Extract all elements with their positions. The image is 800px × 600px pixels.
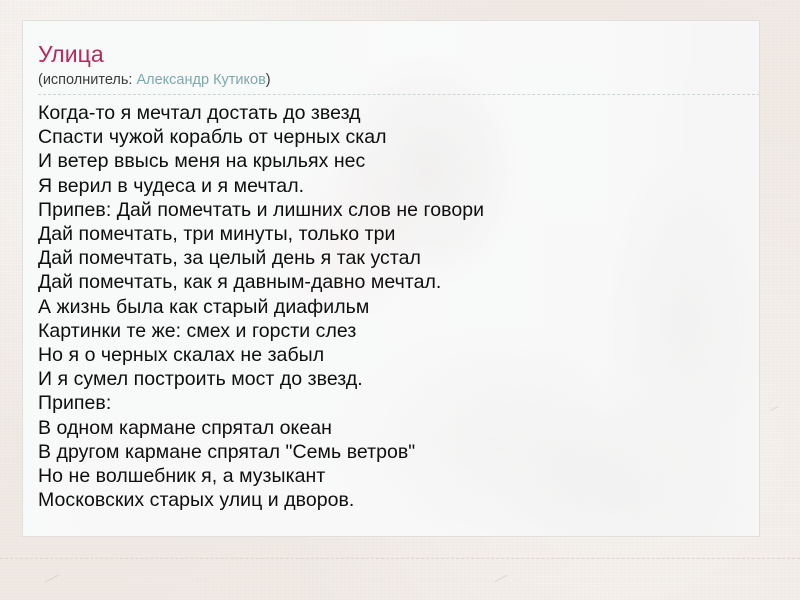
slide-content-panel: Улица (исполнитель: Александр Кутиков) К… xyxy=(22,20,760,537)
lyrics-block: Когда-то я мечтал достать до звездСпасти… xyxy=(38,101,744,512)
performer-prefix-label: (исполнитель: xyxy=(38,72,136,88)
lyric-line: Но я о черных скалах не забыл xyxy=(38,343,744,367)
slide-frame: Улица (исполнитель: Александр Кутиков) К… xyxy=(0,0,800,600)
lyric-line: И я сумел построить мост до звезд. xyxy=(38,367,744,391)
lyric-line: Но не волшебник я, а музыкант xyxy=(38,464,744,488)
lyric-line: Спасти чужой корабль от черных скал xyxy=(38,125,744,149)
performer-name-link[interactable]: Александр Кутиков xyxy=(136,72,265,88)
lyric-line: Когда-то я мечтал достать до звезд xyxy=(38,101,744,125)
lyric-line: В одном кармане спрятал океан xyxy=(38,416,744,440)
lyric-line: И ветер ввысь меня на крыльях нес xyxy=(38,149,744,173)
lyric-line: Московских старых улиц и дворов. xyxy=(38,488,744,512)
lyric-line: А жизнь была как старый диафильм xyxy=(38,295,744,319)
performer-line: (исполнитель: Александр Кутиков) xyxy=(38,71,744,90)
lyric-line: Припев: Дай помечтать и лишних слов не г… xyxy=(38,198,744,222)
text-column: Улица (исполнитель: Александр Кутиков) К… xyxy=(38,40,744,512)
paper-scratch-mark xyxy=(45,574,60,582)
lyric-line: Дай помечтать, как я давным-давно мечтал… xyxy=(38,270,744,294)
performer-suffix-label: ) xyxy=(266,72,271,88)
lyric-line: В другом кармане спрятал "Семь ветров" xyxy=(38,440,744,464)
song-title: Улица xyxy=(38,40,744,68)
lyric-line: Припев: xyxy=(38,391,744,415)
paper-scratch-mark xyxy=(770,406,778,411)
footer-dashed-rule xyxy=(0,558,800,559)
lyric-line: Дай помечтать, три минуты, только три xyxy=(38,222,744,246)
title-divider xyxy=(38,94,760,95)
paper-scratch-mark xyxy=(495,575,508,582)
lyric-line: Я верил в чудеса и я мечтал. xyxy=(38,174,744,198)
lyric-line: Дай помечтать, за целый день я так устал xyxy=(38,246,744,270)
lyric-line: Картинки те же: смех и горсти слез xyxy=(38,319,744,343)
